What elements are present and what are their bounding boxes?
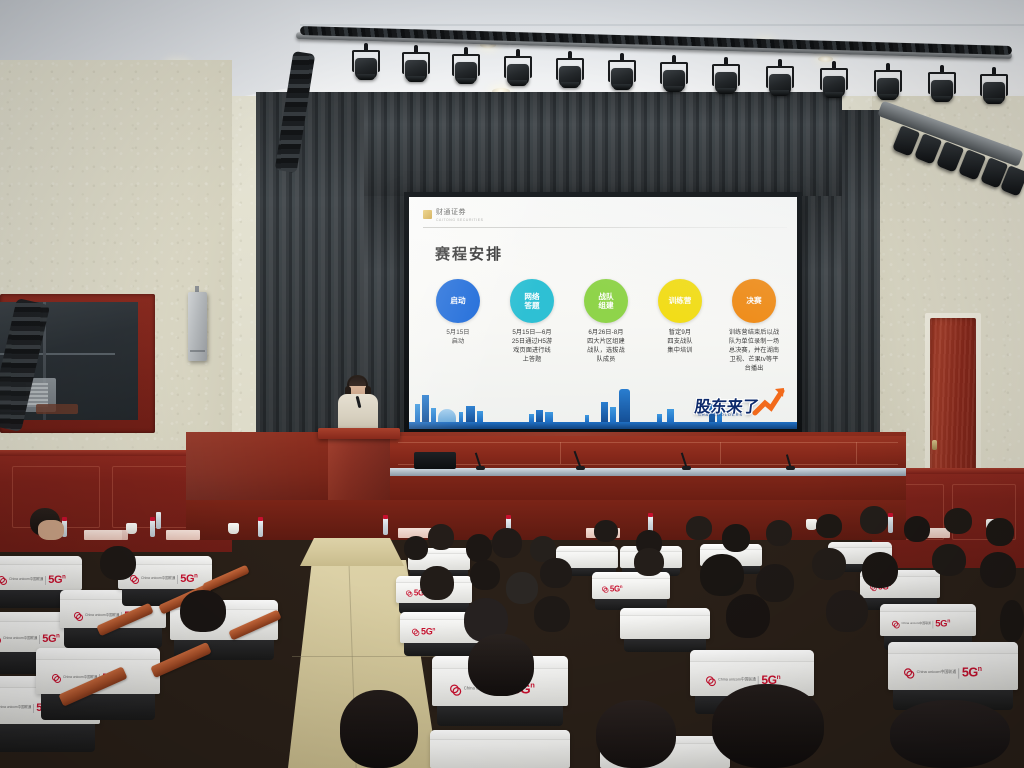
attendee-head (1000, 600, 1024, 642)
attendee-head (756, 564, 794, 602)
logo-divider (177, 575, 178, 584)
attendee-head (594, 520, 618, 542)
network-label: 5Gn (610, 585, 622, 594)
step-label: 战队组建 (598, 292, 613, 311)
bottle-cap (150, 517, 155, 521)
aisle-tile-line (292, 656, 436, 657)
seat-cover-top (36, 648, 160, 660)
stage-front-face (186, 500, 906, 540)
projection-screen: 财通证券 CAITONG SECURITIES 赛程安排 启动 5月15日启动 … (404, 192, 802, 434)
auditorium-seat[interactable]: 5Gn (592, 572, 670, 610)
panel-line (398, 442, 898, 443)
podium-top (318, 428, 400, 439)
seat-brand-logo: China unicom中国联通 5Gn (0, 574, 65, 586)
china-unicom-icon (406, 590, 412, 596)
network-superscript: n (978, 666, 982, 673)
microphone-base (682, 466, 691, 470)
attendee-head (816, 514, 842, 538)
bottle-cap (506, 515, 511, 519)
attendee-head (540, 558, 572, 588)
network-label: 5Gn (935, 619, 950, 629)
speaker-seam (190, 350, 205, 352)
stage-par-light (820, 68, 848, 98)
seat-cover (430, 730, 570, 768)
water-bottle (150, 520, 155, 537)
attendee-head-foreground (340, 690, 418, 768)
stage-par-light (712, 64, 740, 94)
step-description: 5月15日—6月25日通过H5游戏页面进行线上答题 (512, 329, 552, 365)
attendee-head (428, 524, 454, 550)
skyline-building (667, 409, 674, 422)
seat-cover-top (0, 556, 82, 565)
seat-cover-top (620, 608, 710, 616)
attendee-head-cap (506, 572, 538, 604)
water-bottle (258, 520, 263, 537)
attendee-head (466, 534, 492, 562)
logo-divider (45, 576, 46, 585)
light-lens (357, 74, 375, 80)
slide-canvas: 财通证券 CAITONG SECURITIES 赛程安排 启动 5月15日启动 … (409, 197, 797, 429)
skyline-building (545, 412, 553, 422)
light-lens (825, 92, 843, 98)
seat-brand-logo: China unicom中国联通 5Gn (904, 666, 982, 680)
step-description: 训练营结束后以战队为单位录制一场总决赛，并在湖南卫视、芒果tv等平台播出 (729, 329, 779, 374)
network-superscript: n (62, 574, 65, 580)
panel-line (398, 464, 898, 465)
attendee-head (420, 566, 454, 600)
network-label: 5Gn (421, 627, 435, 637)
stage-par-light (556, 58, 584, 88)
china-unicom-icon (0, 576, 7, 585)
skyline-building (466, 406, 475, 422)
attendee-head (862, 552, 898, 588)
light-lens (665, 86, 683, 92)
china-unicom-icon (904, 668, 914, 678)
stage-curtain-inner-right (798, 196, 842, 446)
seat-cover-top (888, 642, 1018, 654)
water-bottle (888, 516, 893, 533)
light-lens (717, 88, 735, 94)
stage-curtain-top (364, 92, 842, 200)
brand-mark-icon (423, 210, 432, 219)
network-label: 5Gn (48, 574, 65, 586)
attendee-head (980, 552, 1016, 588)
bottle-cap (62, 517, 67, 521)
attendee-head (766, 520, 792, 546)
china-unicom-icon (52, 674, 61, 683)
step-label: 启动 (450, 296, 465, 305)
skyline-building (585, 415, 589, 422)
attendee-head (986, 518, 1014, 546)
skyline-building (415, 404, 420, 422)
step-description: 5月15日启动 (446, 329, 469, 347)
seat-back (64, 628, 162, 648)
attendee-head (812, 548, 846, 580)
schedule-steps: 启动 5月15日启动 网络答题 5月15日—6月25日通过H5游戏页面进行线上答… (425, 279, 787, 374)
china-unicom-icon (0, 635, 1, 644)
operator-name: China unicom中国联通 (141, 577, 175, 581)
step-description: 暂定9月四支战队集中培训 (667, 329, 692, 356)
panel-divider (856, 442, 857, 464)
stage-par-light (766, 66, 794, 96)
network-superscript: n (530, 682, 534, 690)
step-bubble: 训练营 (658, 279, 702, 323)
step-bubble: 战队组建 (584, 279, 628, 323)
seat-brand-logo: China unicom中国联通 5Gn (0, 633, 59, 645)
seat-brand-logo: China unicom中国联通 5Gn (130, 573, 197, 585)
skyline-building (431, 408, 436, 422)
seat-brand-logo: 5Gn (602, 585, 622, 594)
attendee-head-foreground (468, 634, 534, 696)
light-lens (407, 76, 425, 82)
seat-cover-top (690, 650, 814, 662)
step-description: 6月26日-8月四大片区组建战队，选拔战队成员 (587, 329, 625, 365)
slide-header-rule (423, 227, 787, 228)
seat-back (437, 706, 562, 726)
logo-divider (958, 668, 959, 678)
step-bubble: 启动 (436, 279, 480, 323)
network-label: 5Gn (180, 573, 197, 585)
light-lens (771, 90, 789, 96)
ceiling-seam-upper (300, 24, 1024, 26)
light-lens (985, 98, 1003, 104)
program-logo-subtitle: SHAREHOLDERS (698, 412, 743, 417)
skyline-dome (438, 409, 456, 422)
stage-par-light (504, 56, 532, 86)
name-card (166, 530, 200, 540)
program-logo: 股东来了 SHAREHOLDERS (691, 383, 789, 423)
schedule-step: 训练营 暂定9月四支战队集中培训 (647, 279, 713, 374)
light-lens (613, 84, 631, 90)
network-superscript: n (620, 585, 622, 589)
table-monitor (414, 452, 456, 469)
seat-cover-top (828, 542, 892, 548)
skyline-building (536, 410, 543, 422)
china-unicom-icon (450, 684, 461, 695)
network-g: G (54, 574, 62, 586)
microphone-base (576, 466, 585, 470)
skyline-tower (619, 389, 630, 422)
step-bubble: 网络答题 (510, 279, 554, 323)
bottle-cap (258, 517, 263, 521)
step-bubble: 决赛 (732, 279, 776, 323)
step-label: 训练营 (669, 296, 692, 305)
schedule-step: 决赛 训练营结束后以战队为单位录制一场总决赛，并在湖南卫视、芒果tv等平台播出 (721, 279, 787, 374)
china-unicom-icon (74, 612, 83, 621)
attendee-head (932, 544, 966, 576)
skyline-base (409, 422, 797, 429)
conference-hall-photo: 财通证券 CAITONG SECURITIES 赛程安排 启动 5月15日启动 … (0, 0, 1024, 768)
brand-name: 财通证券 (436, 207, 483, 217)
attendee-face (38, 520, 64, 540)
attendee-head (534, 596, 570, 632)
microphone-base (476, 466, 485, 470)
light-lens (509, 80, 527, 86)
attendee-head (722, 524, 750, 552)
seat-cover (620, 608, 710, 639)
china-unicom-icon (602, 586, 608, 592)
stage-par-light (402, 52, 430, 82)
schedule-step: 网络答题 5月15日—6月25日通过H5游戏页面进行线上答题 (499, 279, 565, 374)
stage-par-light (928, 72, 956, 102)
light-lens (933, 96, 951, 102)
network-label: 5Gn (962, 666, 982, 680)
network-superscript: n (56, 633, 59, 639)
downlight (818, 56, 833, 62)
operator-name: China unicom中国联通 (901, 623, 930, 626)
attendee-head (470, 560, 500, 590)
light-lens (879, 94, 897, 100)
attendee-head-foreground (890, 700, 1010, 768)
attendee-head (826, 590, 868, 632)
stage-par-light (980, 74, 1008, 104)
stage-par-light (660, 62, 688, 92)
stage-par-light (352, 50, 380, 80)
logo-divider (39, 635, 40, 644)
china-unicom-icon (892, 620, 900, 628)
curtain-shading (838, 110, 880, 454)
panel-divider (720, 442, 721, 464)
attendee-head (686, 516, 712, 540)
bottle-cap (888, 513, 893, 517)
skyline-building (601, 402, 608, 422)
slide-title: 赛程安排 (435, 243, 503, 264)
skyline-building (422, 395, 429, 422)
attendee-head-foreground (712, 684, 824, 768)
schedule-step: 启动 5月15日启动 (425, 279, 491, 374)
skyline-building (459, 412, 463, 422)
step-label: 决赛 (746, 296, 761, 305)
stage-par-light (608, 60, 636, 90)
skyline-building (529, 414, 534, 422)
skyline-building (477, 411, 483, 422)
network-superscript: n (194, 573, 197, 579)
seat-cover-top (430, 730, 570, 740)
slide-brand-logo: 财通证券 CAITONG SECURITIES (423, 207, 483, 222)
seat-back (0, 724, 95, 752)
network-superscript: n (947, 619, 950, 624)
operator-name: China unicom中国联通 (917, 671, 956, 675)
network-superscript: n (777, 674, 781, 681)
network-superscript: n (432, 627, 435, 632)
operator-name: China unicom中国联通 (3, 637, 37, 641)
china-unicom-icon (706, 676, 716, 686)
china-unicom-icon (412, 628, 419, 635)
stage-step (300, 538, 404, 566)
operator-name: China unicom中国联通 (718, 679, 756, 683)
stage-par-light (874, 70, 902, 100)
seat-brand-logo: 5Gn (412, 627, 435, 637)
skyline-building (610, 407, 616, 422)
attendee-head (700, 554, 744, 596)
seat-cover-top (556, 546, 618, 552)
light-lens (457, 78, 475, 84)
door-handle[interactable] (932, 440, 937, 450)
operator-name: China unicom中国联通 (9, 578, 43, 582)
water-bottle (383, 518, 388, 535)
attendee-head (904, 516, 930, 542)
stage-par-light (452, 54, 480, 84)
logo-divider (933, 620, 934, 628)
window-interior-object (36, 404, 78, 414)
seat-brand-logo: China unicom中国联通 5Gn (892, 619, 950, 629)
panel-divider (560, 442, 561, 464)
china-unicom-icon (130, 575, 139, 584)
attendee-head-foreground (596, 700, 676, 768)
curtain-shading (364, 92, 842, 200)
bottle-cap (648, 513, 653, 517)
attendee-head (634, 548, 664, 576)
auditorium-seat[interactable] (620, 608, 710, 652)
auditorium-seat[interactable] (430, 730, 570, 768)
microphone-base (786, 466, 795, 470)
bottle-cap (383, 515, 388, 519)
light-lens (561, 82, 579, 88)
attendee-head (492, 528, 522, 558)
name-card (96, 530, 128, 540)
network-label: 5Gn (42, 633, 59, 645)
attendee-head (180, 590, 226, 632)
tea-cup (228, 523, 239, 534)
schedule-step: 战队组建 6月26日-8月四大片区组建战队，选拔战队成员 (573, 279, 639, 374)
curtain-shading (798, 196, 842, 446)
stage-curtain-right (838, 110, 880, 454)
operator-name: China unicom中国联通 (0, 706, 31, 710)
seat-back (41, 694, 155, 720)
seat-cover-top (880, 604, 976, 612)
attendee-head (726, 594, 770, 638)
attendee-head (944, 508, 972, 534)
attendee-head (100, 546, 136, 580)
skyline-building (657, 414, 662, 422)
logo-divider (33, 704, 34, 713)
step-label: 网络答题 (524, 292, 539, 311)
attendee-head (860, 506, 888, 534)
brand-pinyin: CAITONG SECURITIES (436, 218, 483, 222)
water-bottle (156, 512, 161, 529)
attendee-head (404, 536, 428, 560)
